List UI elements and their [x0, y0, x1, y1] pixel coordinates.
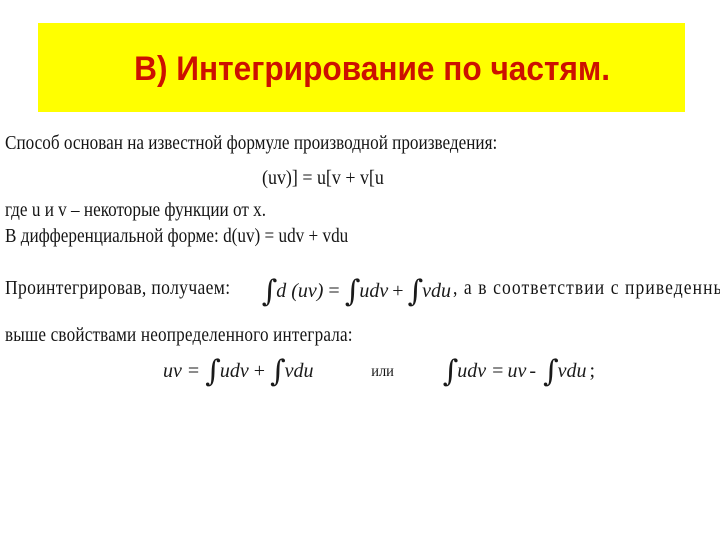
intro-text-line: Способ основан на известной формуле прои… [5, 134, 497, 154]
integrated-tail-text: , а в соответствии с приведенными [453, 278, 720, 300]
result-formula-row: uv=∫udv+∫vdu или ∫udv=uv-∫vdu; [163, 360, 683, 383]
differential-form-line: В дифференциальной форме: d(uv) = udv + … [5, 227, 348, 247]
equals-operator: = [328, 280, 339, 302]
slide-canvas: В) Интегрирование по частям. Способ осно… [0, 0, 720, 540]
integrated-lead-text: Проинтегрировав, получаем: [5, 278, 231, 300]
minus-operator: - [529, 360, 536, 382]
integral-sign-icon: ∫ [408, 274, 424, 309]
derivative-product-formula: (uv)] = u[v + v[u [262, 168, 384, 190]
page-title: В) Интегрирование по частям. [113, 52, 609, 88]
integral-sign-icon: ∫ [262, 274, 278, 309]
vdu-term: vdu [558, 360, 587, 382]
equals-operator: = [188, 360, 199, 382]
where-definition-line: где u и v – некоторые функции от x. [5, 201, 266, 221]
integral-lhs-body: d (uv) [276, 280, 323, 302]
semicolon: ; [590, 360, 596, 382]
plus-operator: + [392, 280, 403, 302]
integral-sign-icon: ∫ [205, 354, 221, 389]
vdu-term: vdu [285, 360, 314, 382]
integral-identity-formula: ∫d (uv)=∫udv+∫vdu [262, 280, 451, 303]
integral-sign-icon: ∫ [543, 354, 559, 389]
integral-rhs2-body: vdu [422, 280, 451, 302]
integral-sign-icon: ∫ [270, 354, 286, 389]
integral-sign-icon: ∫ [345, 274, 361, 309]
integral-sign-icon: ∫ [443, 354, 459, 389]
result-formula-left: uv=∫udv+∫vdu [163, 360, 314, 383]
integral-rhs1-body: udv [359, 280, 388, 302]
title-banner: В) Интегрирование по частям. [38, 23, 685, 112]
uv-term: uv [507, 360, 526, 382]
udv-term: udv [457, 360, 486, 382]
integrated-paragraph: Проинтегрировав, получаем:∫d (uv)=∫udv+∫… [5, 278, 720, 303]
properties-line: выше свойствами неопределенного интеграл… [5, 326, 353, 346]
udv-term: udv [220, 360, 249, 382]
result-formula-right: ∫udv=uv-∫vdu; [443, 360, 595, 383]
plus-operator: + [254, 360, 265, 382]
or-conjunction: или [371, 363, 394, 381]
equals-operator: = [492, 360, 503, 382]
uv-term: uv [163, 360, 182, 382]
